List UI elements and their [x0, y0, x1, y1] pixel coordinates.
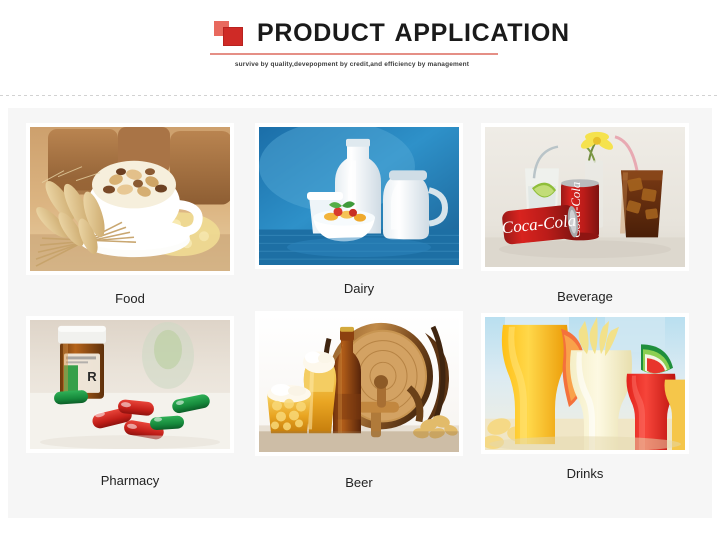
brand-tagline: survive by quality,devepopment by credit… [208, 61, 496, 68]
grid-item-label: Food [26, 291, 234, 306]
two-red-squares-logo-icon [214, 19, 248, 47]
application-grid: Food [8, 108, 712, 518]
brand-lockup: PRODUCTAPPLICATION survive by quality,de… [208, 16, 508, 76]
grid-item-label: Pharmacy [26, 473, 234, 488]
product-application-panel: Food [8, 108, 712, 518]
header-dotted-divider [0, 95, 720, 96]
milk-bottle-jug-cereal-photo [259, 127, 459, 265]
page-title-secondary: APPLICATION [395, 19, 570, 47]
grid-item-beverage[interactable]: Coca-Cola Coca-Cola Beverage [481, 123, 689, 304]
pill-bottle-capsules-photo: R [30, 320, 230, 449]
cola-cans-and-glasses-photo: Coca-Cola Coca-Cola [485, 127, 685, 267]
cereal-bowl-with-wheat-photo [30, 127, 230, 271]
grid-item-label: Beverage [481, 289, 689, 304]
title-underline-rule [210, 53, 498, 55]
grid-item-beer[interactable]: Beer [255, 311, 463, 490]
grid-item-food[interactable]: Food [26, 123, 234, 306]
grid-item-dairy[interactable]: Dairy [255, 123, 463, 296]
thumbnail-frame [481, 313, 689, 454]
page-title-main: PRODUCT [257, 19, 386, 47]
thumbnail-frame: R [26, 316, 234, 453]
logo-square-dark-icon [223, 27, 243, 46]
grid-item-label: Drinks [481, 466, 689, 481]
thumbnail-frame [255, 123, 463, 269]
thumbnail-frame [255, 311, 463, 456]
grid-item-label: Beer [255, 475, 463, 490]
svg-text:R: R [87, 369, 97, 384]
beer-glasses-barrel-photo [259, 315, 459, 452]
grid-item-pharmacy[interactable]: R [26, 316, 234, 488]
title-row: PRODUCTAPPLICATION [208, 16, 508, 50]
page-header: PRODUCTAPPLICATION survive by quality,de… [0, 0, 720, 96]
fruit-juice-glasses-photo [485, 317, 685, 450]
grid-item-drinks[interactable]: Drinks [481, 313, 689, 481]
grid-item-label: Dairy [255, 281, 463, 296]
thumbnail-frame: Coca-Cola Coca-Cola [481, 123, 689, 271]
page-title: PRODUCTAPPLICATION [257, 21, 570, 46]
thumbnail-frame [26, 123, 234, 275]
